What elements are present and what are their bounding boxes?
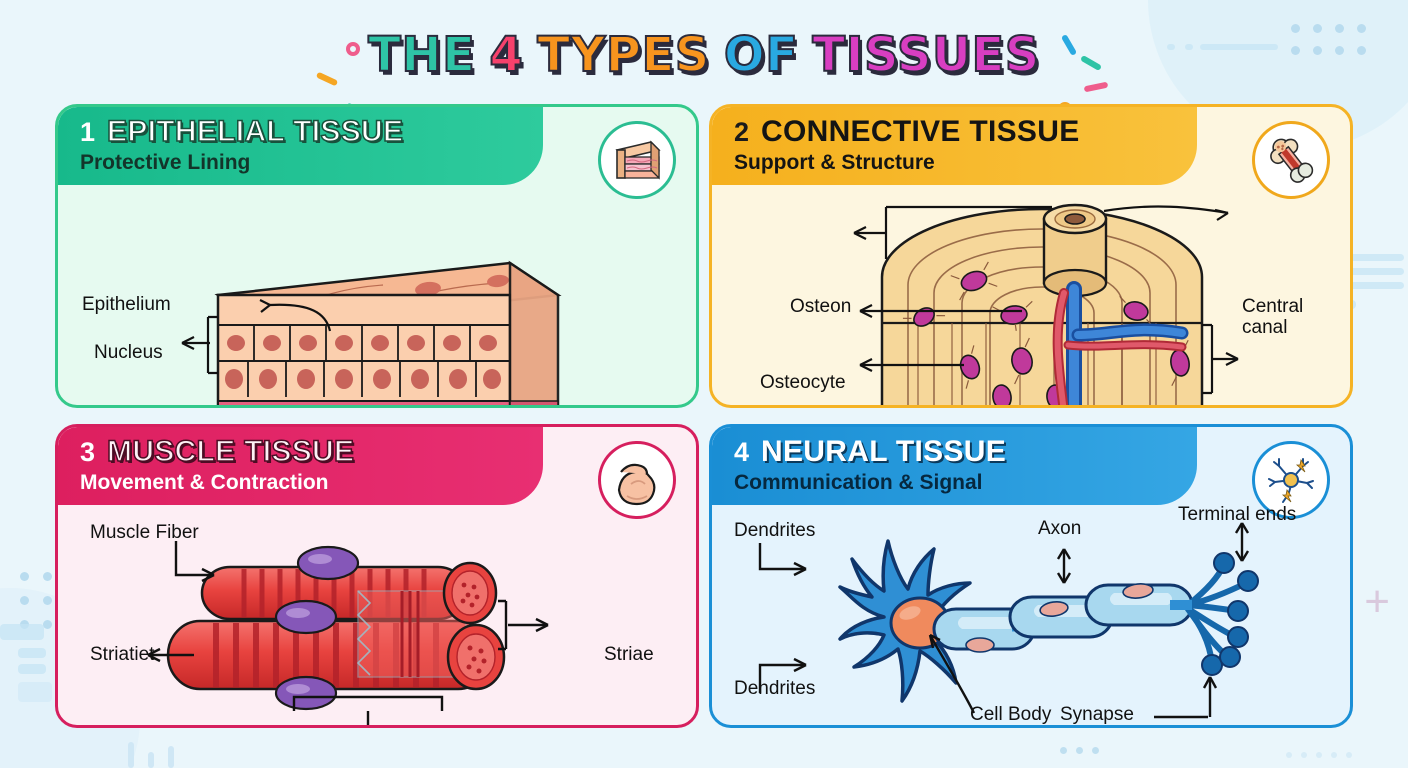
label-central-canal: Central canal	[1242, 297, 1303, 339]
title-word-types: TYPES	[537, 27, 710, 83]
page-title: THE 4 TYPES OF TISSUES	[368, 27, 1040, 83]
decorative-bar	[18, 648, 46, 658]
plus-icon: +	[1364, 580, 1390, 624]
page-title-area: THE 4 TYPES OF TISSUES	[0, 16, 1408, 94]
decorative-tick	[168, 746, 174, 768]
card-neural-tissue[interactable]: 4 NEURAL TISSUE Communication & Signal	[709, 424, 1353, 728]
title-word-4: 4	[489, 27, 523, 83]
card-title: MUSCLE TISSUE	[107, 435, 354, 469]
card-illustration-area: Dendrites Dendrites Cell Body Axon Termi…	[712, 505, 1350, 725]
label-dendrites-top: Dendrites	[734, 521, 815, 542]
card-header: 3 MUSCLE TISSUE Movement & Contraction	[58, 427, 543, 505]
tissue-cards-grid: 1 EPITHELIAL TISSUE Protective Lining	[55, 104, 1353, 728]
label-dendrites-bottom: Dendrites	[734, 679, 815, 700]
label-osteon: Osteon	[790, 297, 851, 318]
label-nucleus: Nucleus	[94, 343, 163, 364]
label-osteocyte: Osteocyte	[760, 373, 846, 394]
decorative-bar	[18, 664, 46, 674]
confetti-right-icon	[1040, 24, 1130, 114]
card-number: 3	[80, 437, 95, 468]
card-subtitle: Support & Structure	[734, 151, 1197, 175]
card-subtitle: Movement & Contraction	[80, 471, 543, 495]
card-number: 4	[734, 437, 749, 468]
card-header: 2 CONNECTIVE TISSUE Support & Structure	[712, 107, 1197, 185]
title-word-tissues: TISSUES	[812, 27, 1039, 83]
decorative-bar	[18, 682, 52, 702]
title-word-of: OF	[724, 27, 799, 83]
card-connective-tissue[interactable]: 2 CONNECTIVE TISSUE Support & Structure	[709, 104, 1353, 408]
mini-dot-grid-icon	[1060, 747, 1099, 754]
decorative-bar	[0, 624, 44, 640]
card-title: CONNECTIVE TISSUE	[761, 115, 1079, 149]
card-header: 4 NEURAL TISSUE Communication & Signal	[712, 427, 1197, 505]
label-blood-vessel: Blood vessel	[1242, 407, 1296, 408]
label-muscle-fiber: Muscle Fiber	[90, 523, 199, 544]
title-word-the: THE	[368, 27, 475, 83]
card-illustration-area: Osteon Osteocyte Lamellae Central canal …	[712, 185, 1350, 405]
card-muscle-tissue[interactable]: 3 MUSCLE TISSUE Movement & Contraction	[55, 424, 699, 728]
decorative-bar	[1348, 282, 1404, 289]
label-striae: Striae	[604, 645, 654, 666]
card-subtitle: Communication & Signal	[734, 471, 1197, 495]
card-illustration-area: Muscle Fiber Striatiet Striae Sarcomere	[58, 505, 696, 725]
card-subtitle: Protective Lining	[80, 151, 543, 175]
card-number: 1	[80, 117, 95, 148]
mini-dot-grid-icon	[1286, 752, 1352, 758]
card-illustration-area: Epithelium Nucleus Cell Barrier Pacelium	[58, 185, 696, 405]
card-epithelial-tissue[interactable]: 1 EPITHELIAL TISSUE Protective Lining	[55, 104, 699, 408]
label-axon: Axon	[1038, 519, 1081, 540]
label-synapse: Synapse	[1060, 705, 1134, 726]
card-header: 1 EPITHELIAL TISSUE Protective Lining	[58, 107, 543, 185]
card-number: 2	[734, 117, 749, 148]
label-terminal-ends: Terminal ends	[1178, 505, 1296, 526]
label-epithelium: Epithelium	[82, 295, 171, 316]
card-title: NEURAL TISSUE	[761, 435, 1006, 469]
decorative-tick	[128, 742, 134, 768]
label-striatiet: Striatiet	[90, 645, 154, 666]
dot-grid-bottom-left-icon	[20, 572, 51, 629]
label-cell-body: Cell Body	[970, 705, 1051, 726]
card-title: EPITHELIAL TISSUE	[107, 115, 403, 149]
decorative-tick	[148, 752, 154, 768]
